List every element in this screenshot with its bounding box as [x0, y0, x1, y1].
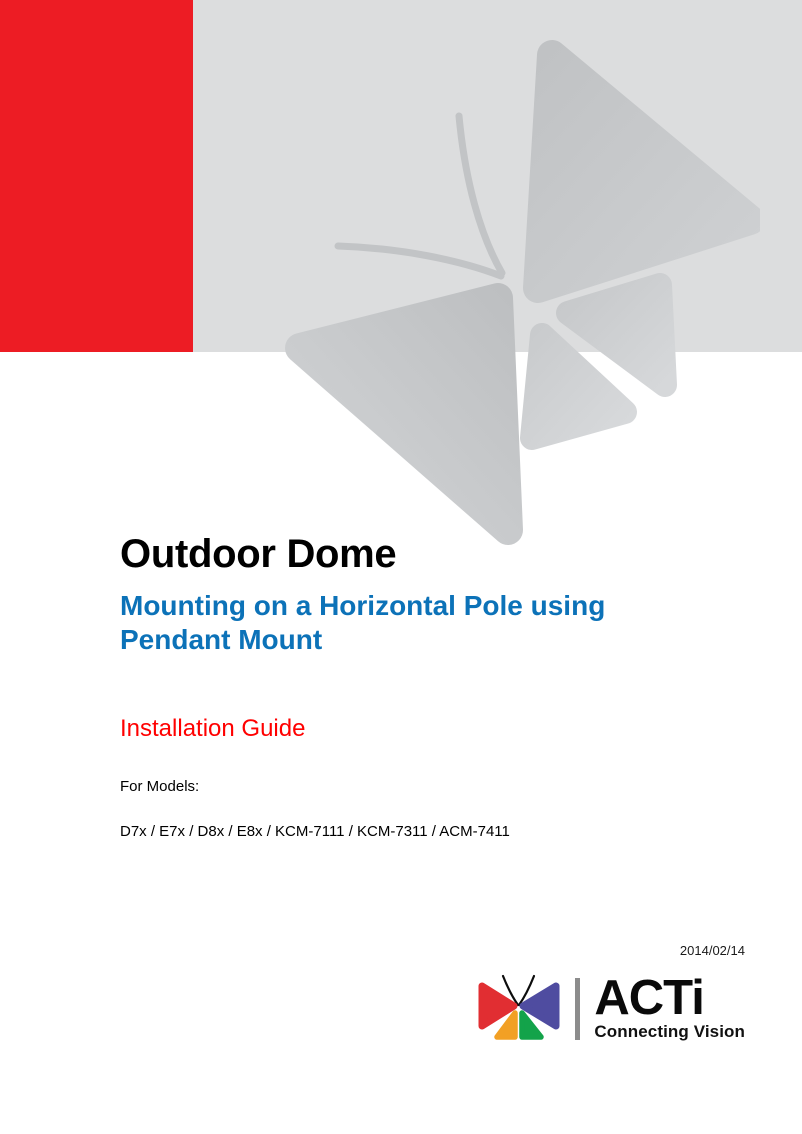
brand-divider	[575, 978, 580, 1040]
brand-tagline: Connecting Vision	[594, 1023, 745, 1042]
brand-text-block: ACTi Connecting Vision	[594, 976, 745, 1042]
cover-page: Outdoor Dome Mounting on a Horizontal Po…	[0, 0, 802, 1134]
models-list: D7x / E7x / D8x / E8x / KCM-7111 / KCM-7…	[120, 823, 720, 840]
page-title: Outdoor Dome	[120, 532, 720, 577]
acti-brand-lockup: ACTi Connecting Vision	[473, 972, 745, 1046]
brand-name: ACTi	[594, 976, 745, 1021]
header-gray-band	[193, 0, 802, 352]
cover-text-block: Outdoor Dome Mounting on a Horizontal Po…	[120, 532, 720, 840]
page-subtitle: Mounting on a Horizontal Pole using Pend…	[120, 589, 680, 657]
acti-butterfly-logo-icon	[473, 972, 565, 1046]
header-red-band	[0, 0, 193, 352]
models-label: For Models:	[120, 778, 720, 795]
document-kind-label: Installation Guide	[120, 715, 720, 744]
document-date: 2014/02/14	[680, 943, 745, 958]
